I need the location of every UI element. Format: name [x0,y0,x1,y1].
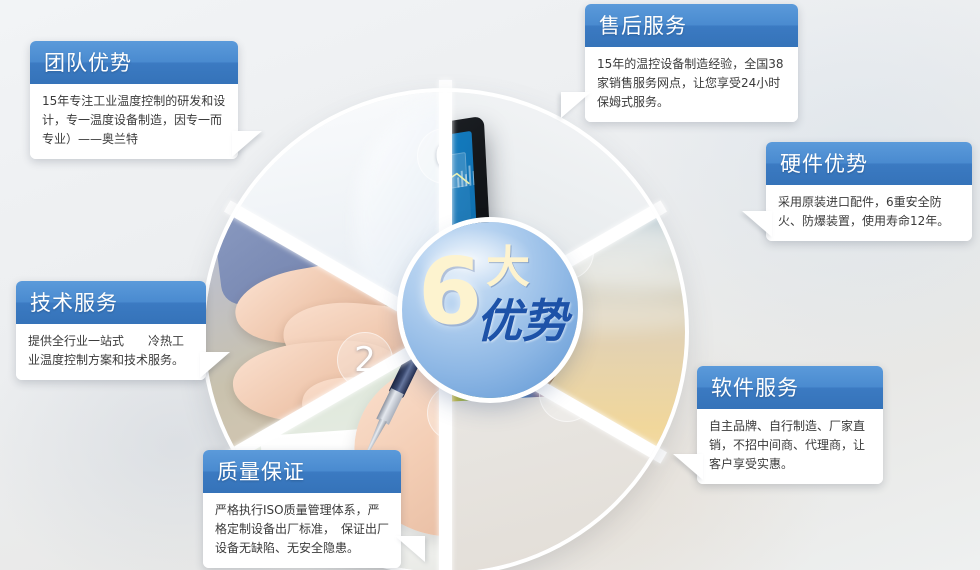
callout-tail [673,454,703,480]
card-body-quality: 严格执行ISO质量管理体系，严格定制设备出厂标准， 保证出厂设备无缺陷、无安全隐… [203,493,401,568]
callout-card-hardware[interactable]: 硬件优势 采用原装进口配件，6重安全防火、防爆装置，使用寿命12年。 [766,142,972,241]
card-title-software: 软件服务 [697,366,883,409]
callout-tail [395,536,425,562]
card-body-software: 自主品牌、自行制造、厂家直销，不招中间商、代理商，让客户享受实惠。 [697,409,883,484]
callout-card-tech[interactable]: 技术服务 提供全行业一站式 冷热工业温度控制方案和技术服务。 [16,281,206,380]
card-title-team: 团队优势 [30,41,238,84]
callout-tail [232,131,262,157]
callout-tail [561,92,591,118]
hub-number: 6 [418,246,482,338]
callout-card-team[interactable]: 团队优势 15年专注工业温度控制的研发和设计，专一温度设备制造，因专一而专业）—… [30,41,238,159]
callout-card-software[interactable]: 软件服务 自主品牌、自行制造、厂家直销，不招中间商、代理商，让客户享受实惠。 [697,366,883,484]
card-body-after-sales: 15年的温控设备制造经验，全国38家销售服务网点，让您享受24小时保姆式服务。 [585,47,798,122]
center-hub-text: 6 大 优势 [402,222,578,398]
callout-tail [200,352,230,378]
card-body-hardware: 采用原装进口配件，6重安全防火、防爆装置，使用寿命12年。 [766,185,972,241]
callout-tail [742,211,772,237]
card-title-tech: 技术服务 [16,281,206,324]
hub-suffix: 优势 [476,296,568,346]
center-hub[interactable]: 6 大 优势 [402,222,578,398]
card-body-tech: 提供全行业一站式 冷热工业温度控制方案和技术服务。 [16,324,206,380]
infographic-canvas: 1 6 [0,0,980,570]
callout-card-quality[interactable]: 质量保证 严格执行ISO质量管理体系，严格定制设备出厂标准， 保证出厂设备无缺陷… [203,450,401,568]
callout-card-after-sales[interactable]: 售后服务 15年的温控设备制造经验，全国38家销售服务网点，让您享受24小时保姆… [585,4,798,122]
hub-big-char: 大 [486,246,530,290]
card-title-hardware: 硬件优势 [766,142,972,185]
card-title-quality: 质量保证 [203,450,401,493]
card-title-after-sales: 售后服务 [585,4,798,47]
card-body-team: 15年专注工业温度控制的研发和设计，专一温度设备制造，因专一而专业）——奥兰特 [30,84,238,159]
